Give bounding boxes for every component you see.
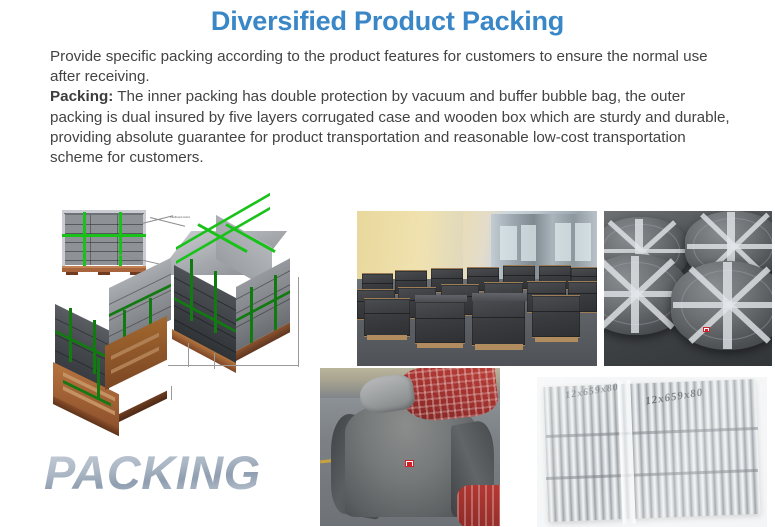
body-text-block: Provide specific packing according to th… bbox=[50, 47, 740, 168]
packing-cad-drawings: Cardboard carton Plastic or PP strap bbox=[40, 205, 350, 455]
cutaway-wooden-pallet-view bbox=[45, 300, 180, 420]
body-paragraph-packing: Packing: The inner packing has double pr… bbox=[50, 87, 740, 168]
packing-text: The inner packing has double protection … bbox=[50, 88, 730, 166]
body-paragraph-lead: Provide specific packing according to th… bbox=[50, 47, 740, 87]
packing-watermark: PACKING bbox=[44, 445, 261, 500]
front-elevation-view: Cardboard carton Plastic or PP strap bbox=[62, 210, 146, 280]
packing-label: Packing: bbox=[50, 88, 113, 105]
media-band: Cardboard carton Plastic or PP strap bbox=[0, 205, 775, 527]
vacuum-packed-graphite-rods-photo: 12x659x80 12x659x80 bbox=[537, 377, 767, 527]
brand-sticker bbox=[703, 327, 710, 332]
yard-crated-pallets-photo bbox=[357, 211, 597, 366]
page-title: Diversified Product Packing bbox=[0, 6, 775, 37]
isometric-strapped-pallet-view bbox=[168, 225, 318, 375]
slide-root: Diversified Product Packing Provide spec… bbox=[0, 0, 775, 527]
taped-drum-packages-photo bbox=[604, 211, 772, 366]
callout-cardboard-carton: Cardboard carton bbox=[170, 216, 190, 219]
worker-felt-wrapped-cylinder-photo bbox=[320, 368, 500, 526]
brand-sticker bbox=[405, 460, 414, 467]
